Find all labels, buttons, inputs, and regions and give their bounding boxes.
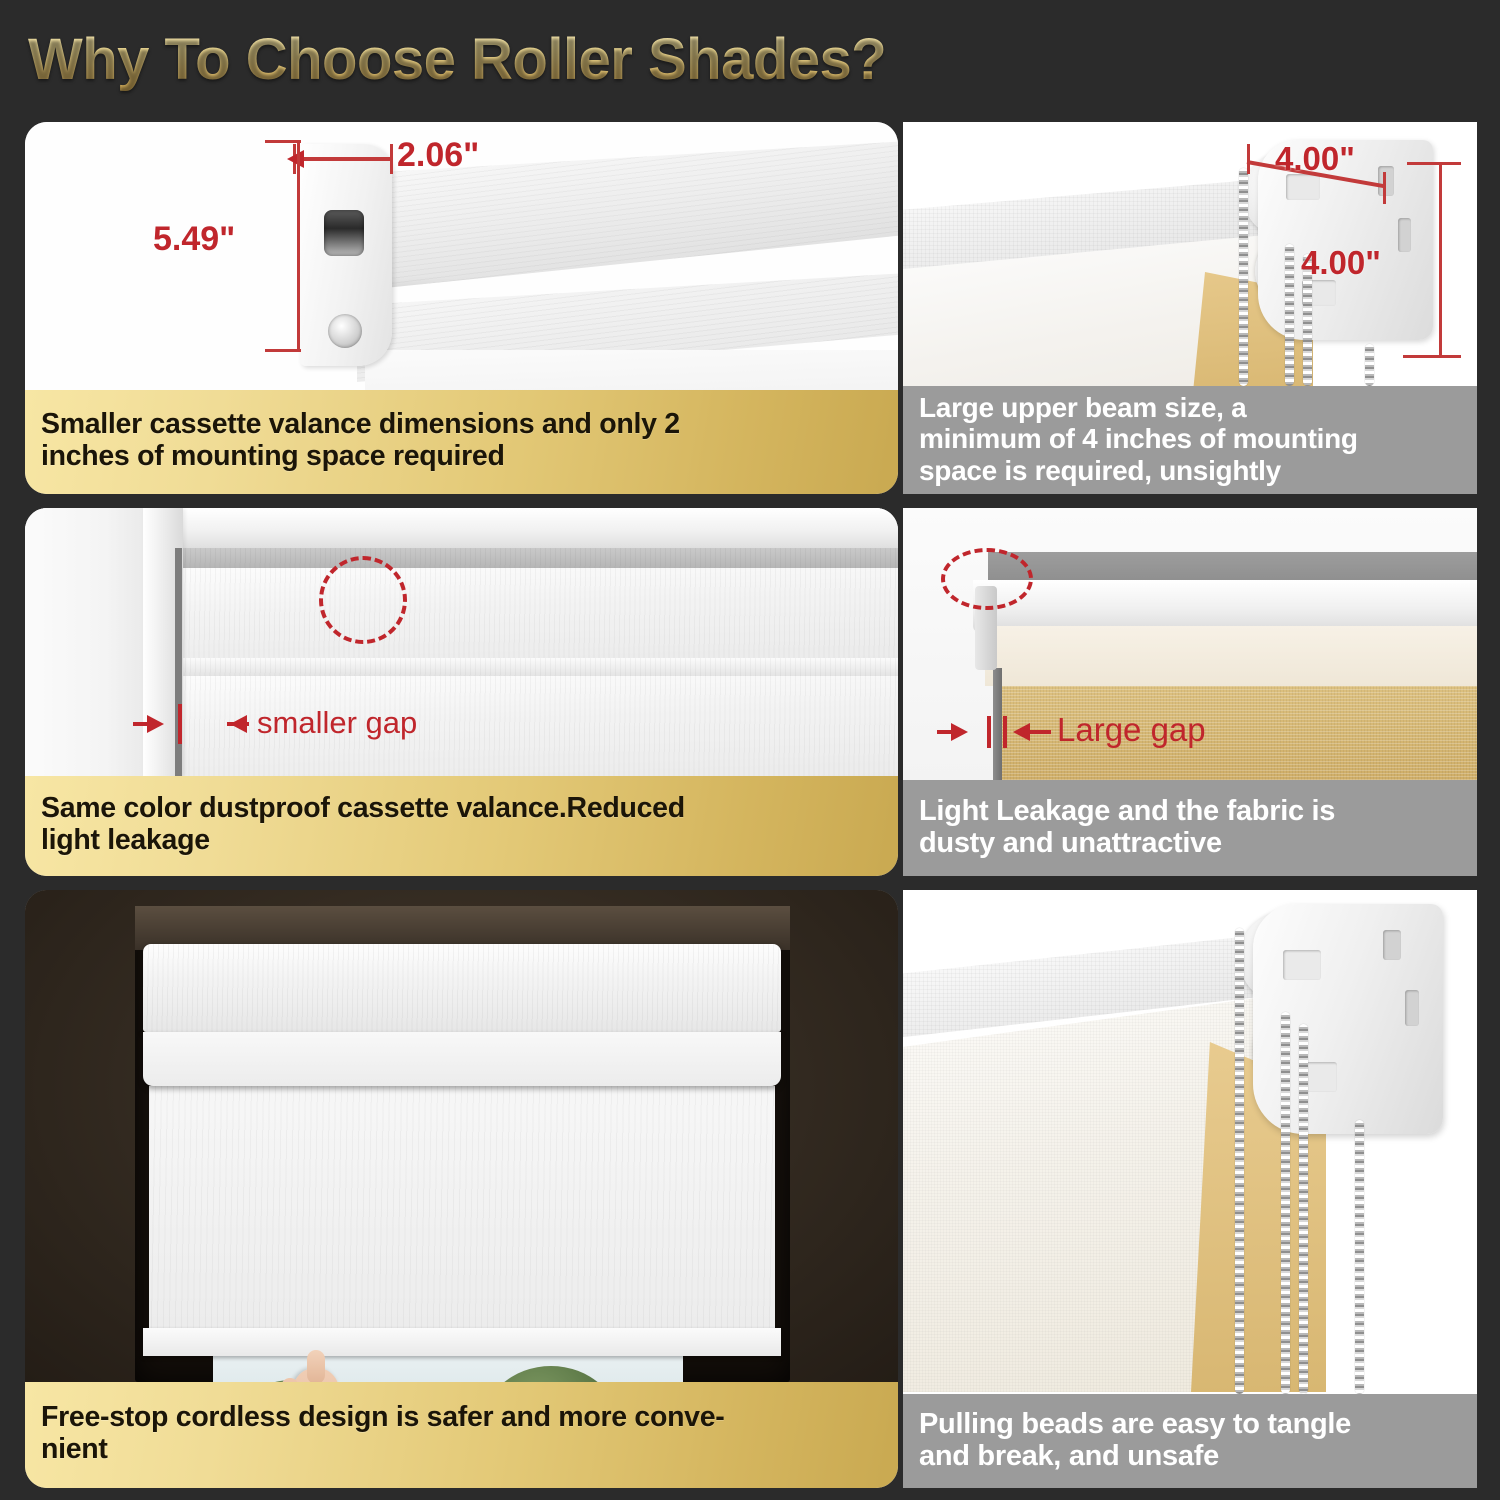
caption-row2-pro: Same color dustproof cassette valance.Re… <box>25 776 898 876</box>
bracket-slot-1 <box>1378 166 1394 196</box>
bracket-slot-2 <box>1398 218 1411 252</box>
tree-3 <box>481 1366 621 1382</box>
window-frame-head <box>143 508 898 548</box>
arrow-tail-left <box>1029 730 1051 734</box>
valance-fabric <box>365 350 898 390</box>
caption-row2-con: Light Leakage and the fabric is dusty an… <box>903 780 1477 876</box>
product-image-smaller-gap: smaller gap <box>25 508 898 776</box>
shade-roller-white <box>973 580 1477 632</box>
caption-row3-pro: Free-stop cordless design is safer and m… <box>25 1382 898 1488</box>
shade-band-upper <box>180 568 898 658</box>
caption-row3-con: Pulling beads are easy to tangle and bre… <box>903 1394 1477 1488</box>
shade-divider-rail <box>180 658 898 676</box>
panel-row2-pro: smaller gap Same color dustproof cassett… <box>25 508 898 876</box>
gap-callout-label: smaller gap <box>257 705 417 741</box>
caption-text: Large upper beam size, a minimum of 4 in… <box>919 392 1461 486</box>
caption-text: Smaller cassette valance dimensions and … <box>41 409 882 473</box>
shade-edge-shadow <box>993 668 1002 780</box>
cassette-valance <box>143 944 781 1032</box>
shade-bottom-rail <box>143 1328 781 1356</box>
caption-text: Free-stop cordless design is safer and m… <box>41 1402 882 1466</box>
bracket-slot-2 <box>1405 990 1419 1026</box>
cassette-shadow-line <box>180 548 898 568</box>
dim-cap-top <box>265 140 301 143</box>
panel-row1-pro: 2.06" 5.49" Smaller cassette valance dim… <box>25 122 898 494</box>
gap-marker <box>178 704 182 744</box>
page-title-text: Why To Choose Roller Shades? <box>28 26 886 93</box>
valance-end-cap <box>300 144 392 366</box>
dim-line-width <box>293 157 393 161</box>
dim-cap-bottom <box>265 349 301 352</box>
gap-marker-2 <box>1003 716 1007 748</box>
product-image-large-beam: 4.00" 4.00" <box>903 122 1477 386</box>
dim-tick-left-top <box>1247 144 1250 174</box>
cassette-valance-lower <box>143 1032 781 1086</box>
bead-chain-2 <box>1281 1012 1290 1394</box>
dim-line-height-right <box>1439 162 1442 358</box>
product-image-large-gap: Large gap <box>903 508 1477 780</box>
dim-cap-top-right <box>1407 162 1461 165</box>
caption-text: Light Leakage and the fabric is dusty an… <box>919 795 1461 860</box>
bead-chain-2 <box>1285 244 1294 386</box>
dimension-label-height: 4.00" <box>1301 244 1381 282</box>
product-image-cordless-window <box>25 890 898 1382</box>
caption-text: Pulling beads are easy to tangle and bre… <box>919 1408 1461 1473</box>
gap-marker-1 <box>987 716 991 748</box>
dimension-label-width: 2.06" <box>397 136 479 175</box>
dim-line-height <box>297 140 300 352</box>
panel-row2-con: Large gap Light Leakage and the fabric i… <box>903 508 1477 876</box>
panel-row1-con: 4.00" 4.00" Large upper beam size, a min… <box>903 122 1477 494</box>
highlight-circle-icon <box>319 556 407 644</box>
product-image-cassette-valance: 2.06" 5.49" <box>25 122 898 390</box>
bracket-slot-1 <box>1383 930 1401 960</box>
gap-arrow-left-icon <box>230 715 247 733</box>
shade-body-fabric <box>149 1086 775 1352</box>
window-outdoor-view <box>213 1356 683 1382</box>
window-frame-outer <box>25 508 160 776</box>
caption-row1-con: Large upper beam size, a minimum of 4 in… <box>903 386 1477 494</box>
caption-row1-pro: Smaller cassette valance dimensions and … <box>25 390 898 494</box>
arrow-tail-right <box>133 722 151 726</box>
bead-chain-3 <box>1299 1024 1308 1394</box>
arrow-tail-right <box>937 730 955 734</box>
dimension-label-height: 5.49" <box>153 220 235 259</box>
bracket-emboss-1 <box>1283 950 1321 980</box>
highlight-circle-icon <box>941 548 1033 610</box>
panel-row3-pro: Free-stop cordless design is safer and m… <box>25 890 898 1488</box>
gap-callout-label: Large gap <box>1057 711 1206 749</box>
dimension-label-width: 4.00" <box>1275 140 1355 178</box>
product-image-bead-chains <box>903 890 1477 1394</box>
comparison-grid: 2.06" 5.49" Smaller cassette valance dim… <box>0 110 1500 1500</box>
shade-cream-band <box>985 626 1477 686</box>
page-title: Why To Choose Roller Shades? <box>28 18 1078 100</box>
bead-chain-1 <box>1235 928 1244 1394</box>
gap-arrow-left-icon <box>1013 723 1030 741</box>
panel-row3-con: Pulling beads are easy to tangle and bre… <box>903 890 1477 1488</box>
bead-chain-1 <box>1239 168 1248 386</box>
caption-text: Same color dustproof cassette valance.Re… <box>41 793 882 857</box>
dim-cap-bottom-right <box>1403 355 1461 358</box>
bead-chain-4 <box>1355 1120 1364 1394</box>
bead-chain-4 <box>1365 344 1374 386</box>
dim-arrow-left-icon <box>287 150 304 168</box>
